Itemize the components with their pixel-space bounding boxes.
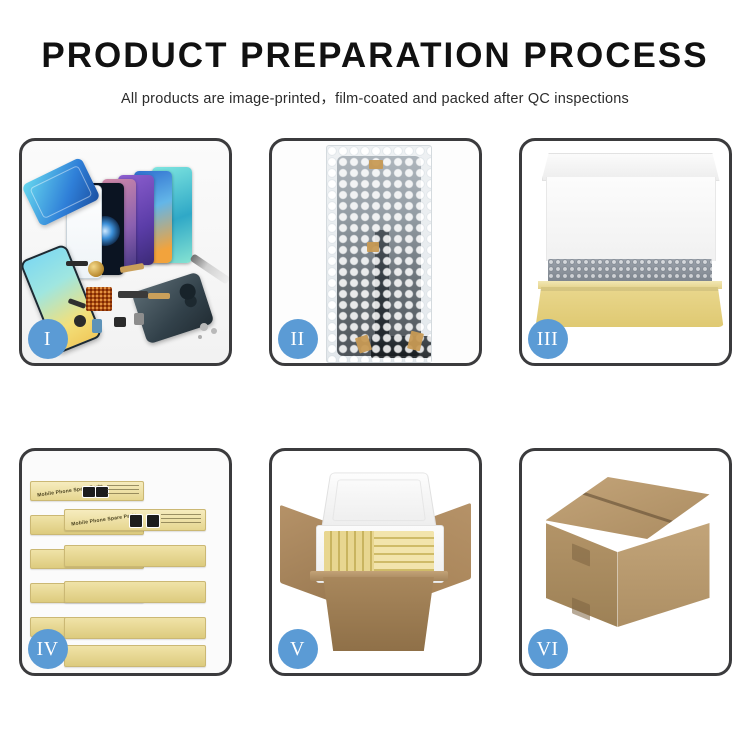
header: PRODUCT PREPARATION PROCESS All products… xyxy=(0,0,750,108)
stacked-box-back-top: Mobile Phone Spare Parts xyxy=(30,481,144,501)
flex-ribbon-4 xyxy=(148,293,170,299)
box-label-text-lines xyxy=(161,514,200,527)
chip-2 xyxy=(74,315,86,327)
carton-front-panel xyxy=(316,577,442,651)
process-step-cell-2: II xyxy=(250,132,500,372)
process-step-panel-1: I xyxy=(19,138,232,366)
stacked-box-front-4 xyxy=(64,617,206,639)
process-step-panel-5: V xyxy=(269,448,482,676)
tape-piece-1 xyxy=(369,160,383,169)
box-label-phone-image-1 xyxy=(129,514,143,528)
step-badge-6: VI xyxy=(528,629,568,669)
box-label-text-lines xyxy=(107,485,138,497)
tape-piece-2 xyxy=(367,242,379,252)
box-printed-label: Mobile Phone Spare Parts xyxy=(31,482,143,500)
process-step-grid: I II xyxy=(0,132,750,682)
process-step-cell-1: I xyxy=(0,132,250,372)
chip-4 xyxy=(114,317,126,327)
chip-5 xyxy=(134,313,144,325)
foam-lid-open xyxy=(320,473,436,531)
step-badge-1: I xyxy=(28,319,68,359)
process-step-cell-5: V xyxy=(250,442,500,682)
carton-top-face xyxy=(546,477,710,539)
step-badge-3: III xyxy=(528,319,568,359)
coil-component-icon xyxy=(88,261,104,277)
box-printed-label: Mobile Phone Spare Parts xyxy=(65,510,205,530)
carton-right-face xyxy=(618,523,710,627)
product-preparation-infographic: PRODUCT PREPARATION PROCESS All products… xyxy=(0,0,750,750)
process-step-panel-4: Mobile Phone Spare Parts xyxy=(19,448,232,676)
stacked-box-front-2 xyxy=(64,545,206,567)
process-step-cell-4: Mobile Phone Spare Parts xyxy=(0,442,250,682)
step-badge-5: V xyxy=(278,629,318,669)
process-step-panel-3: III xyxy=(519,138,732,366)
process-step-cell-3: III xyxy=(500,132,750,372)
box-label-phone-image-1 xyxy=(82,486,96,499)
flex-ribbon-2 xyxy=(118,291,148,298)
box-front-yellow xyxy=(536,287,724,327)
stacked-box-front-3 xyxy=(64,581,206,603)
stacked-box-front-5 xyxy=(64,645,206,667)
yellow-boxes-inside xyxy=(324,531,434,575)
stacked-box-front-top: Mobile Phone Spare Parts xyxy=(64,509,206,531)
step-badge-2: II xyxy=(278,319,318,359)
page-title: PRODUCT PREPARATION PROCESS xyxy=(0,38,750,75)
process-step-cell-6: VI xyxy=(500,442,750,682)
box-inner-wall xyxy=(546,177,716,261)
screws-group xyxy=(200,323,208,331)
phone-back-housing xyxy=(131,272,214,345)
bubble-wrap-bag xyxy=(326,145,432,363)
chip-3 xyxy=(92,319,102,333)
page-subtitle: All products are image-printed，film-coat… xyxy=(0,87,750,108)
chip-1 xyxy=(66,261,88,266)
process-step-panel-2: II xyxy=(269,138,482,366)
box-label-phone-image-2 xyxy=(146,514,160,528)
process-step-panel-6: VI xyxy=(519,448,732,676)
step-badge-4: IV xyxy=(28,629,68,669)
box-label-text: Mobile Phone Spare Parts xyxy=(70,512,137,527)
bubble-texture-overlay xyxy=(327,146,431,362)
copper-grid-component xyxy=(86,287,112,311)
